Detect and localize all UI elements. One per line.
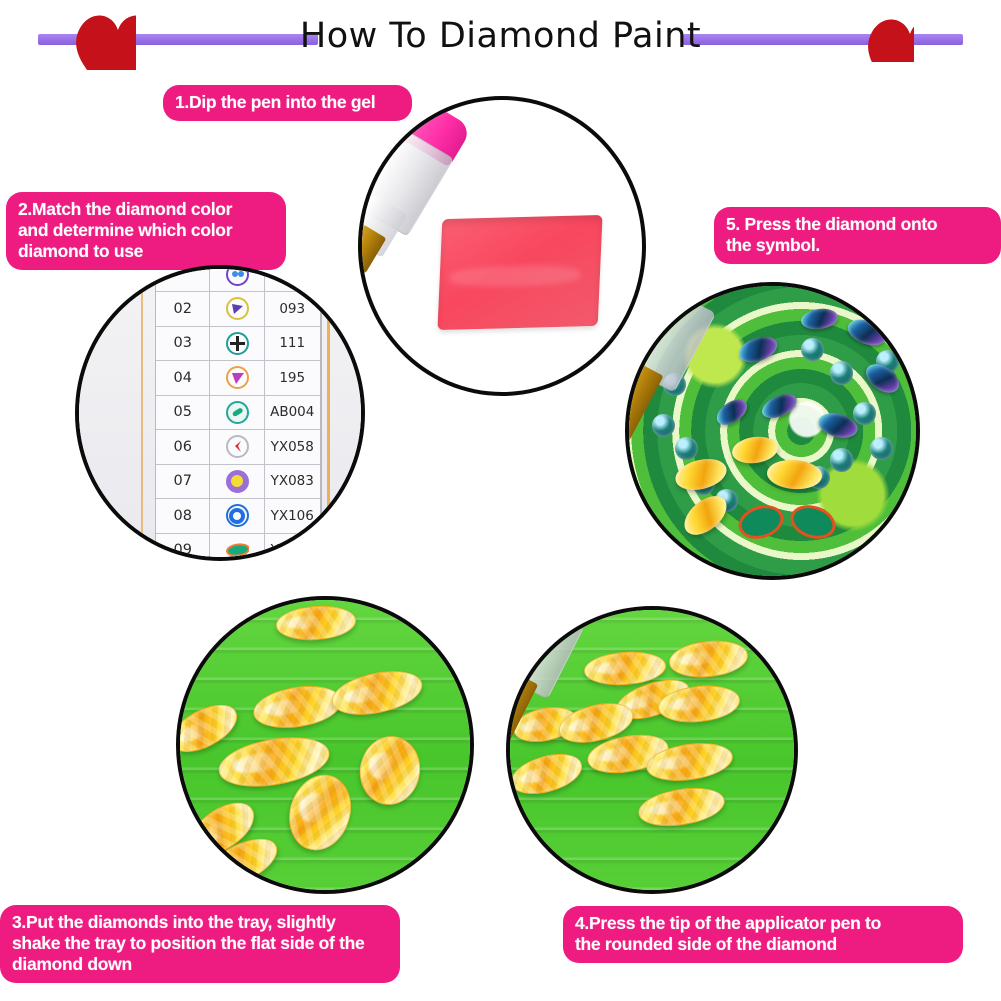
chart-symbol-cell	[209, 361, 264, 395]
step-5-line-2: the symbol.	[726, 235, 989, 256]
chart-code-cell: 09	[156, 542, 209, 558]
chart-code-cell: 04	[156, 370, 209, 386]
step-5-photo	[625, 282, 920, 580]
filled-donut-icon	[226, 470, 249, 493]
chart-dmc-cell: AB004	[265, 404, 320, 420]
page-title: How To Diamond Paint	[0, 16, 1001, 56]
chart-symbol-cell	[209, 327, 264, 361]
chart-code-cell: 07	[156, 473, 209, 489]
table-row: 07YX083	[156, 465, 320, 500]
round-gem	[675, 437, 698, 460]
step-2-line-3: diamond to use	[18, 241, 274, 262]
slanted-capsule-icon	[226, 401, 249, 424]
step-4-line-1: 4.Press the tip of the applicator pen to	[575, 913, 951, 934]
step-3-line-2: shake the tray to position the flat side…	[12, 933, 388, 954]
triangle-flag-icon	[226, 297, 249, 320]
chart-symbol-cell	[209, 292, 264, 326]
plus-cross-icon	[226, 332, 249, 355]
chart-dmc-cell: YX125	[265, 542, 320, 558]
table-row: 08YX106	[156, 499, 320, 534]
table-row: 09YX125	[156, 534, 320, 561]
table-row: 03111	[156, 327, 320, 362]
step-4-photo	[506, 606, 798, 894]
chart-symbol-cell	[209, 499, 264, 533]
chart-code-cell: 02	[156, 301, 209, 317]
step-3-label: 3.Put the diamonds into the tray, slight…	[0, 905, 400, 983]
chart-symbol-cell	[209, 534, 264, 561]
table-row: 05AB004	[156, 396, 320, 431]
round-gem	[801, 338, 824, 361]
step-3-line-3: diamond down	[12, 954, 388, 975]
pen-tip	[506, 670, 538, 749]
step-2-photo: 02802093031110419505AB00406YX05807YX0830…	[75, 265, 365, 561]
step-2-line-2: and determine which color	[18, 220, 274, 241]
chart-margin-line-left	[141, 269, 143, 557]
chart-dmc-cell: 195	[265, 370, 320, 386]
chart-code-cell: 06	[156, 439, 209, 455]
chart-dmc-cell: 093	[265, 301, 320, 317]
double-dot-circle-icon	[226, 265, 249, 286]
step-4-label: 4.Press the tip of the applicator pen to…	[563, 906, 963, 963]
chart-dmc-cell: 111	[265, 335, 320, 351]
gel-square	[438, 215, 603, 330]
leaf-marquise-icon	[226, 539, 249, 561]
chart-symbol-cell	[209, 430, 264, 464]
table-row: 028	[156, 265, 320, 292]
table-row: 02093	[156, 292, 320, 327]
step-2-label: 2.Match the diamond color and determine …	[6, 192, 286, 270]
step-3-photo	[176, 596, 474, 894]
chart-dmc-cell: 028	[265, 266, 320, 282]
chart-dmc-cell: YX058	[265, 439, 320, 455]
step-1-photo	[358, 96, 646, 396]
step-4-line-2: the rounded side of the diamond	[575, 934, 951, 955]
table-row: 04195	[156, 361, 320, 396]
color-symbol-table: 02802093031110419505AB00406YX05807YX0830…	[155, 265, 321, 561]
pen-tip	[625, 360, 665, 446]
step-2-line-1: 2.Match the diamond color	[18, 199, 274, 220]
chart-dmc-cell: YX083	[265, 473, 320, 489]
chart-dmc-cell: YX106	[265, 508, 320, 524]
how-to-diamond-paint-infographic: How To Diamond Paint 1.Dip the pen into …	[0, 0, 1001, 1001]
chart-symbol-cell	[209, 396, 264, 430]
step-3-line-1: 3.Put the diamonds into the tray, slight…	[12, 912, 388, 933]
chart-symbol-cell	[209, 465, 264, 499]
chart-code-cell: 08	[156, 508, 209, 524]
ring-icon	[226, 504, 249, 527]
round-gem	[853, 402, 876, 425]
chart-code-cell: 03	[156, 335, 209, 351]
chart-margin-line-right2	[327, 269, 330, 557]
round-gem	[830, 361, 853, 384]
table-row: 06YX058	[156, 430, 320, 465]
triangle-down-icon	[226, 366, 249, 389]
step-5-line-1: 5. Press the diamond onto	[726, 214, 989, 235]
round-gem	[870, 437, 893, 460]
left-chevron-icon	[226, 435, 249, 458]
chart-code-cell: 05	[156, 404, 209, 420]
step-5-label: 5. Press the diamond onto the symbol.	[714, 207, 1001, 264]
round-gem	[830, 448, 853, 471]
chart-symbol-cell	[209, 265, 264, 291]
